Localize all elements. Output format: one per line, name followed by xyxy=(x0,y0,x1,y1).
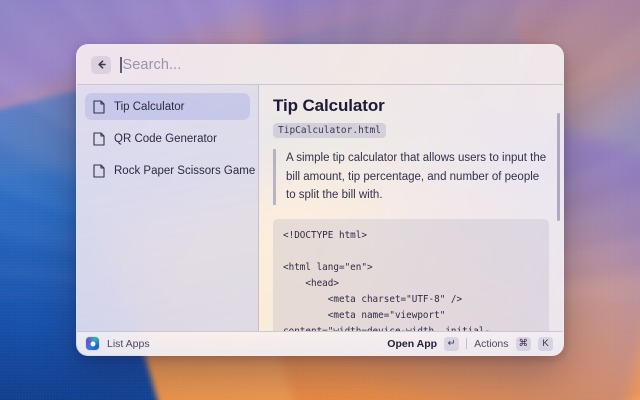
sidebar-item-qr-code-generator[interactable]: QR Code Generator xyxy=(85,125,250,152)
detail-pane: Tip Calculator TipCalculator.html A simp… xyxy=(259,85,563,331)
sidebar-item-label: QR Code Generator xyxy=(114,133,217,145)
launcher-window: Search... Tip Calculator xyxy=(76,44,564,356)
document-icon xyxy=(93,100,105,114)
document-icon xyxy=(93,132,105,146)
app-icon xyxy=(86,337,99,350)
results-sidebar: Tip Calculator QR Code Generator xyxy=(77,85,259,331)
command-key-badge: ⌘ xyxy=(516,337,532,351)
open-app-button[interactable]: Open App xyxy=(387,338,437,350)
actions-button[interactable]: Actions xyxy=(474,338,508,350)
sidebar-item-label: Rock Paper Scissors Game xyxy=(114,165,255,177)
arrow-left-icon xyxy=(96,59,107,70)
filename-badge: TipCalculator.html xyxy=(273,123,386,138)
search-placeholder: Search... xyxy=(123,57,182,73)
sidebar-item-label: Tip Calculator xyxy=(114,101,185,113)
document-icon xyxy=(93,164,105,178)
page-title: Tip Calculator xyxy=(273,96,549,116)
footer-divider xyxy=(466,338,467,349)
footer-actions: Open App ↵ Actions ⌘ K xyxy=(387,337,553,351)
sidebar-item-rock-paper-scissors-game[interactable]: Rock Paper Scissors Game xyxy=(85,157,250,184)
window-body: Tip Calculator QR Code Generator xyxy=(77,85,563,331)
app-label: List Apps xyxy=(107,338,150,350)
sidebar-item-tip-calculator[interactable]: Tip Calculator xyxy=(85,93,250,120)
return-key-badge: ↵ xyxy=(444,337,459,351)
footer-toolbar: List Apps Open App ↵ Actions ⌘ K xyxy=(77,331,563,355)
k-key-badge: K xyxy=(538,337,553,351)
back-button[interactable] xyxy=(91,56,111,74)
code-preview: <!DOCTYPE html> <html lang="en"> <head> … xyxy=(273,219,549,331)
text-caret xyxy=(120,57,122,73)
search-bar: Search... xyxy=(77,45,563,85)
search-input[interactable]: Search... xyxy=(120,57,549,73)
description-text: A simple tip calculator that allows user… xyxy=(273,149,549,205)
detail-scrollbar[interactable] xyxy=(557,113,560,221)
